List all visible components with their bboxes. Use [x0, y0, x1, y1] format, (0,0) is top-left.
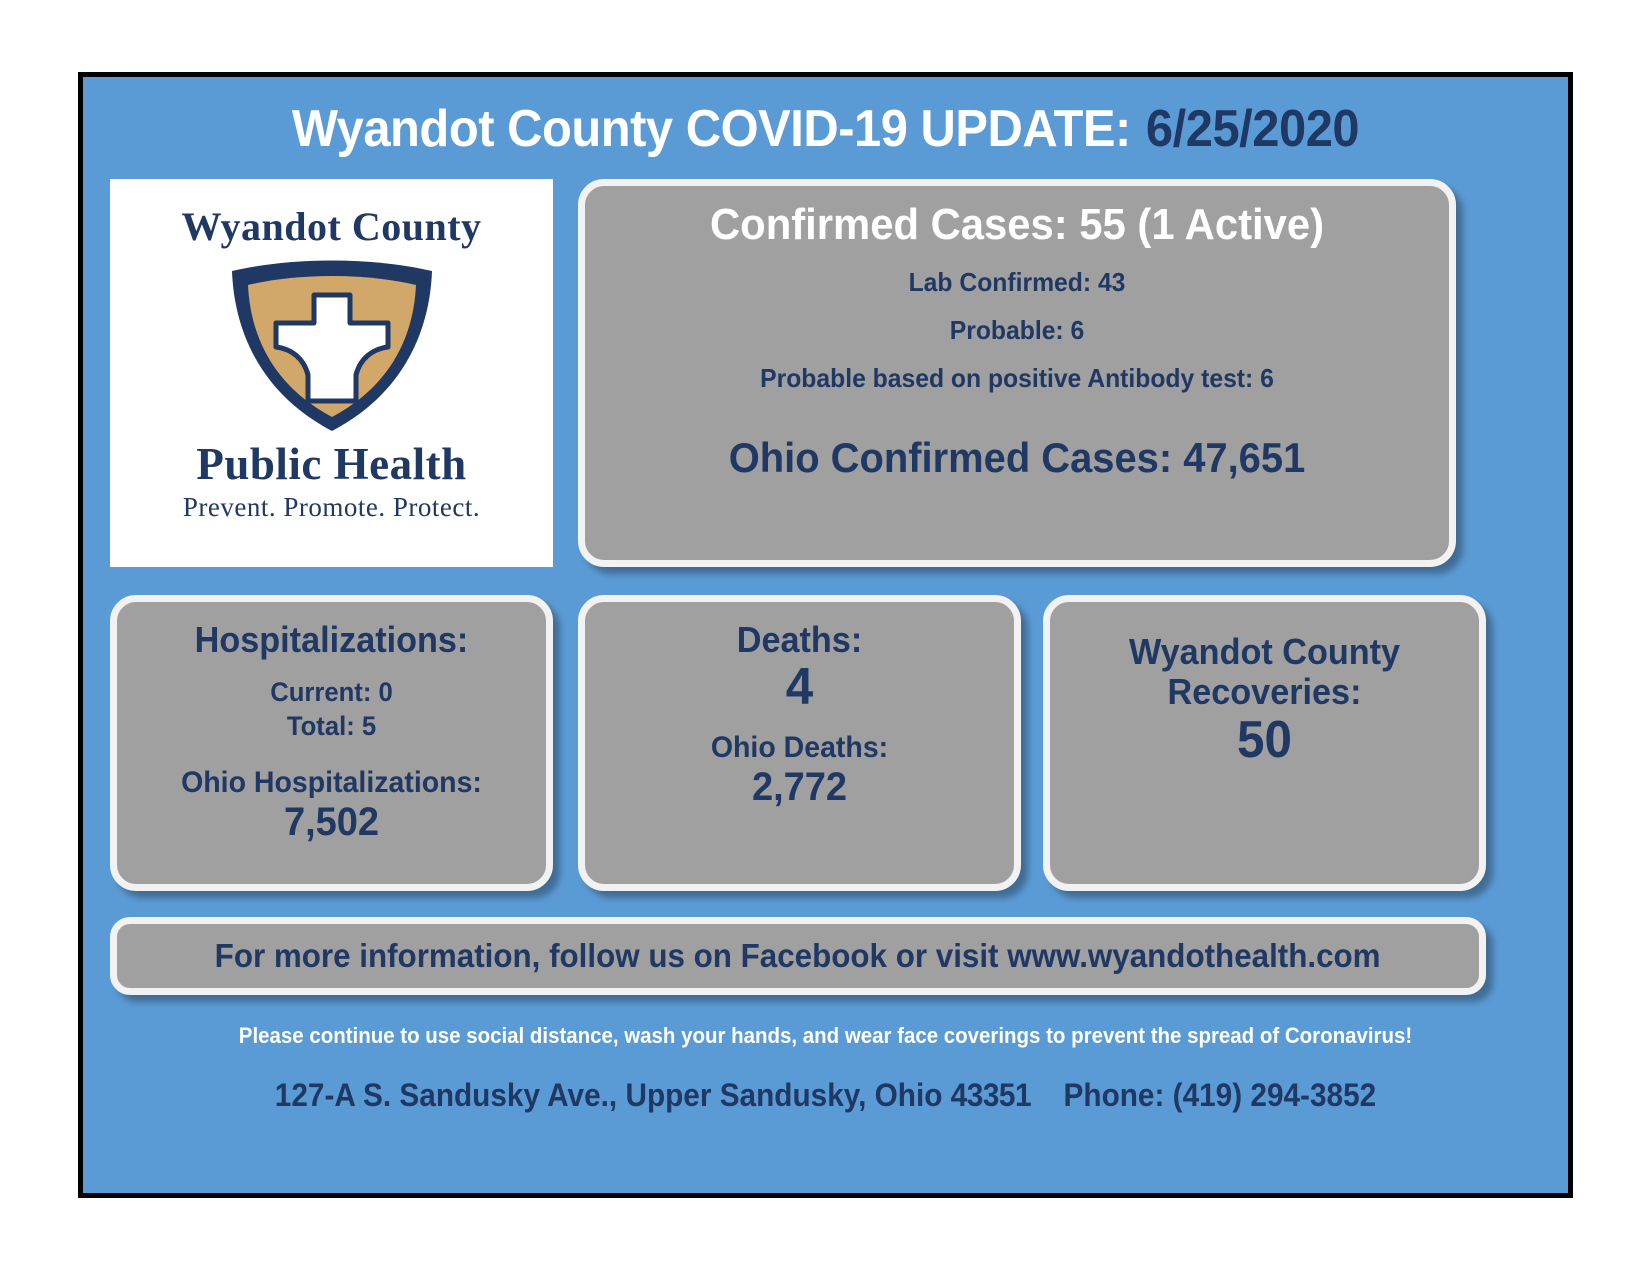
phone-number: Phone: (419) 294-3852	[1064, 1077, 1377, 1113]
page-title-date: 6/25/2020	[1146, 100, 1359, 158]
page-title-main: Wyandot County COVID-19 UPDATE:	[292, 100, 1131, 158]
confirmed-cases-card: Confirmed Cases: 55 (1 Active) Lab Confi…	[578, 179, 1456, 567]
address-zip: 43351	[951, 1077, 1031, 1113]
contact-line: 127-A S. Sandusky Ave., Upper Sandusky, …	[135, 1077, 1516, 1114]
lab-confirmed-line: Lab Confirmed: 43	[631, 267, 1402, 298]
ohio-hospitalizations-value: 7,502	[128, 800, 536, 845]
logo-line-public-health: Public Health	[110, 438, 553, 490]
ohio-confirmed-cases-line: Ohio Confirmed Cases: 47,651	[631, 434, 1402, 482]
logo-tagline: Prevent. Promote. Protect.	[110, 492, 553, 523]
hospitalizations-heading: Hospitalizations:	[128, 620, 536, 660]
logo-line-county: Wyandot County	[110, 203, 553, 250]
confirmed-cases-headline: Confirmed Cases: 55 (1 Active)	[631, 200, 1402, 250]
deaths-card: Deaths: 4 Ohio Deaths: 2,772	[578, 595, 1021, 891]
more-information-text: For more information, follow us on Faceb…	[215, 937, 1381, 975]
address-text: 127-A S. Sandusky Ave., Upper Sandusky, …	[275, 1077, 943, 1113]
recoveries-value: 50	[1061, 713, 1469, 768]
ohio-hospitalizations-label: Ohio Hospitalizations:	[128, 766, 536, 800]
recoveries-card: Wyandot County Recoveries: 50	[1043, 595, 1486, 891]
recoveries-heading-line2: Recoveries:	[1061, 672, 1469, 712]
agency-logo: Wyandot County Public Health Prevent. Pr…	[110, 179, 553, 567]
recoveries-heading-line1: Wyandot County	[1061, 632, 1469, 672]
more-information-bar[interactable]: For more information, follow us on Faceb…	[110, 917, 1486, 995]
covid-update-poster: Wyandot County COVID-19 UPDATE:6/25/2020…	[78, 72, 1573, 1198]
hospitalizations-total: Total: 5	[128, 710, 536, 744]
ohio-deaths-value: 2,772	[596, 765, 1004, 810]
hospitalizations-current: Current: 0	[128, 676, 536, 710]
deaths-value: 4	[596, 660, 1004, 715]
page-title: Wyandot County COVID-19 UPDATE:6/25/2020	[128, 99, 1524, 159]
probable-antibody-line: Probable based on positive Antibody test…	[631, 363, 1402, 394]
ohio-deaths-label: Ohio Deaths:	[596, 731, 1004, 765]
shield-cross-icon	[110, 254, 553, 436]
hospitalizations-card: Hospitalizations: Current: 0 Total: 5 Oh…	[110, 595, 553, 891]
probable-line: Probable: 6	[631, 315, 1402, 346]
public-health-notice: Please continue to use social distance, …	[135, 1023, 1516, 1049]
deaths-heading: Deaths:	[596, 620, 1004, 660]
